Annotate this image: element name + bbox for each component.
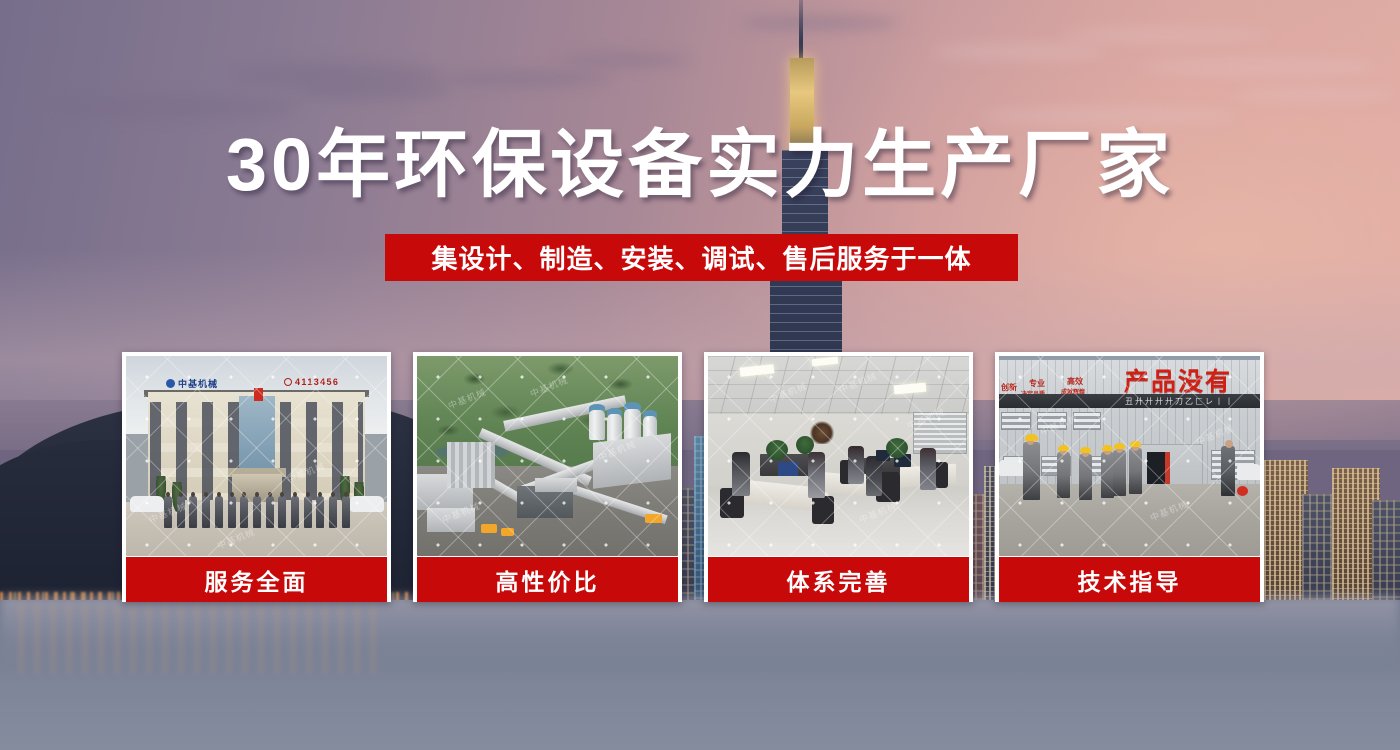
office-person xyxy=(732,452,750,496)
red-helmet-icon xyxy=(1237,486,1248,496)
cloud xyxy=(740,16,900,30)
cloud xyxy=(300,82,450,100)
feature-card-service[interactable]: 中基机械 4113456 中基机械 中基机械 中基机 xyxy=(122,352,391,602)
office-person xyxy=(848,446,864,484)
cloud xyxy=(1060,28,1270,42)
building-phone-text: 4113456 xyxy=(295,377,339,387)
staff-row xyxy=(164,496,350,532)
instructor xyxy=(1221,446,1235,496)
worker xyxy=(1129,448,1142,494)
factory-slogan-0: 创新 xyxy=(1001,382,1017,393)
worker xyxy=(1057,452,1070,498)
photo-aerial-industrial-plant: 中基机械 中基机械 中基机械 中基机械 xyxy=(417,356,678,556)
worker xyxy=(1023,442,1040,500)
card-caption-bar: 体系完善 xyxy=(708,557,969,602)
cloud xyxy=(440,72,610,86)
card-caption-text: 服务全面 xyxy=(205,563,309,597)
company-logo-icon xyxy=(166,379,175,388)
building-sign: 中基机械 xyxy=(166,377,266,389)
phone-icon xyxy=(284,378,292,386)
factory-slogan-1: 专业 xyxy=(1029,378,1045,389)
worker xyxy=(1079,454,1092,500)
feature-card-guidance[interactable]: 产品没有 创新 专业 决定品质 高效 成就辉煌 丑廾廾 廾廾刀 乙匚レ 丨丨 xyxy=(995,352,1264,602)
subtitle-banner: 集设计、制造、安装、调试、售后服务于一体 xyxy=(385,234,1018,281)
office-person xyxy=(808,452,825,498)
hard-hat-icon xyxy=(1102,445,1113,451)
card-caption-text: 体系完善 xyxy=(787,563,891,597)
cloud xyxy=(930,44,1110,60)
water-reflections xyxy=(20,604,380,674)
factory-banner-text: 产品没有 xyxy=(1124,362,1232,398)
cloud xyxy=(1230,88,1400,102)
cloud xyxy=(980,108,1240,124)
hard-hat-icon xyxy=(1025,434,1038,441)
subtitle-text: 集设计、制造、安装、调试、售后服务于一体 xyxy=(431,239,971,276)
tower-antenna xyxy=(799,0,803,62)
page-title: 30年环保设备实力生产厂家 xyxy=(0,128,1400,202)
card-caption-bar: 技术指导 xyxy=(999,557,1260,602)
card-caption-text: 高性价比 xyxy=(496,563,600,597)
office-person xyxy=(920,448,936,490)
feature-card-system[interactable]: 中基机械 中基机械 中基机械 中基机械 体系完善 xyxy=(704,352,973,602)
card-caption-text: 技术指导 xyxy=(1078,563,1182,597)
hard-hat-icon xyxy=(1080,447,1091,453)
flag-icon xyxy=(254,388,263,401)
building-phone: 4113456 xyxy=(284,377,339,387)
cloud xyxy=(60,96,300,118)
hard-hat-icon xyxy=(1114,443,1125,449)
card-caption-bar: 高性价比 xyxy=(417,557,678,602)
building-sign-text: 中基机械 xyxy=(178,377,218,390)
worker xyxy=(1113,450,1126,496)
office-person xyxy=(866,456,882,496)
photo-factory-workers-training: 产品没有 创新 专业 决定品质 高效 成就辉煌 丑廾廾 廾廾刀 乙匚レ 丨丨 xyxy=(999,356,1260,556)
feature-card-row: 中基机械 4113456 中基机械 中基机械 中基机 xyxy=(122,352,1278,602)
cloud xyxy=(560,54,690,66)
cloud xyxy=(1140,58,1380,76)
photo-office-interior-staff: 中基机械 中基机械 中基机械 中基机械 xyxy=(708,356,969,556)
feature-card-value[interactable]: 中基机械 中基机械 中基机械 中基机械 高性价比 xyxy=(413,352,682,602)
card-caption-bar: 服务全面 xyxy=(126,557,387,602)
photo-company-headquarters-building: 中基机械 4113456 中基机械 中基机械 中基机 xyxy=(126,356,387,556)
hard-hat-icon xyxy=(1130,441,1141,447)
factory-slogan-2: 高效 xyxy=(1067,376,1083,387)
hard-hat-icon xyxy=(1058,445,1069,451)
